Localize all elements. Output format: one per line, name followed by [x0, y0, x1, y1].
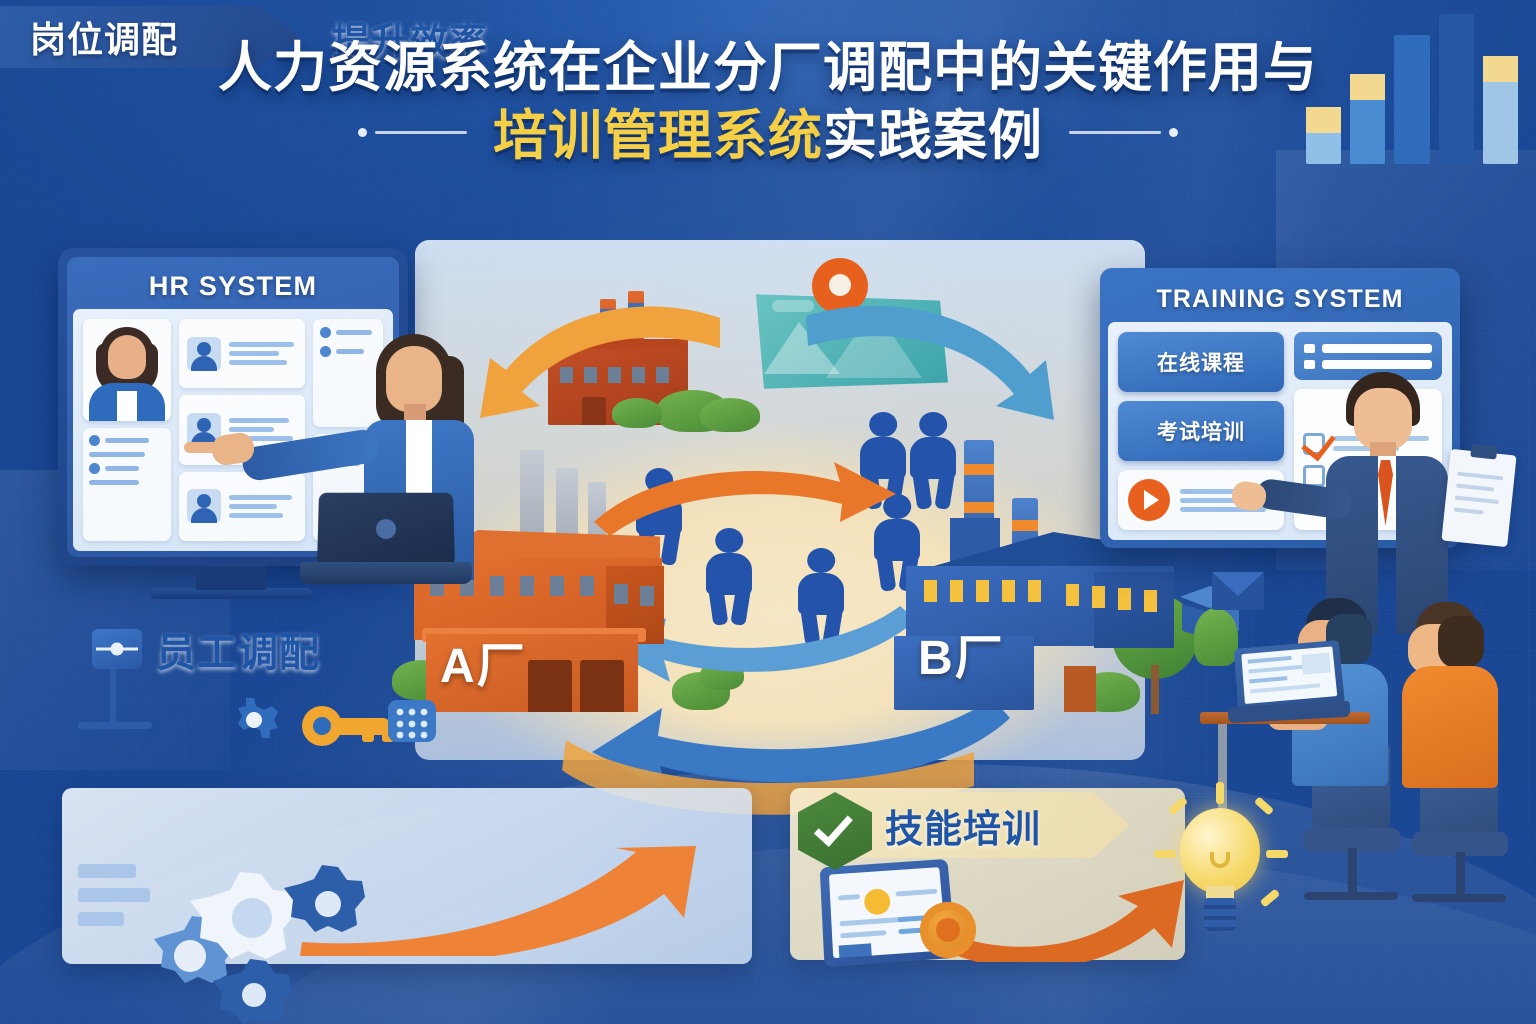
stat-dot-icon — [89, 435, 100, 446]
page-title: 人力资源系统在企业分厂调配中的关键作用与 培训管理系统 实践案例 — [0, 38, 1536, 167]
org-chart-icon — [92, 629, 142, 669]
title-dot-right-icon — [1169, 128, 1178, 137]
training-button-online-course[interactable]: 在线课程 — [1118, 332, 1284, 392]
factory-a-label: A厂 — [440, 626, 527, 696]
hr-stats-card[interactable] — [83, 428, 171, 541]
title-highlight: 培训管理系统 — [493, 106, 823, 166]
employee-avatar-icon — [187, 489, 221, 523]
stat-dot-icon — [89, 463, 100, 474]
training-system-title: TRAINING SYSTEM — [1108, 276, 1452, 322]
pointing-hand-icon — [184, 442, 220, 453]
employee-avatar-icon — [187, 337, 221, 371]
envelope-icon — [1212, 572, 1264, 610]
factory-b-label: B厂 — [918, 618, 1005, 688]
bush-icon — [700, 398, 760, 432]
title-bar-left-icon — [375, 131, 467, 134]
monitor-stand — [196, 566, 266, 590]
orange-curved-arrow-icon — [940, 862, 1190, 962]
training-button-exam[interactable]: 考试培训 — [1118, 401, 1284, 461]
hr-left-column — [83, 319, 171, 541]
gears-icon — [116, 856, 416, 1024]
title-line-1: 人力资源系统在企业分厂调配中的关键作用与 — [0, 38, 1536, 98]
list-item[interactable] — [179, 319, 305, 388]
clipboard-icon — [1441, 449, 1516, 547]
feature-employee-allocation-label: 员工调配 — [156, 620, 320, 678]
title-line-2-row: 培训管理系统 实践案例 — [0, 98, 1536, 166]
hr-system-title: HR SYSTEM — [73, 263, 393, 309]
infographic-canvas: 人力资源系统在企业分厂调配中的关键作用与 培训管理系统 实践案例 — [0, 0, 1536, 1024]
title-dot-left-icon — [358, 128, 367, 137]
title-rule-left — [358, 128, 467, 137]
play-button-icon[interactable] — [1128, 479, 1170, 521]
title-bar-right-icon — [1069, 131, 1161, 134]
laptop-icon — [1228, 644, 1348, 722]
feature-employee-allocation[interactable]: 员工调配 — [92, 620, 320, 678]
certificate-seal-icon — [920, 902, 976, 958]
person-pictogram-icon — [706, 528, 752, 624]
bush-icon — [612, 398, 662, 428]
title-line-2: 培训管理系统 实践案例 — [493, 106, 1043, 166]
person-pictogram-icon — [798, 548, 844, 644]
title-rule-right — [1069, 128, 1178, 137]
title-rest: 实践案例 — [823, 106, 1043, 166]
list-item[interactable] — [179, 472, 305, 541]
employee-portrait-icon — [83, 319, 171, 421]
seated-worker-orange — [1388, 602, 1508, 792]
gears-icon — [210, 686, 440, 766]
hr-employee-list — [179, 319, 305, 541]
location-pin-icon — [812, 258, 868, 332]
laptop-icon — [300, 492, 472, 584]
